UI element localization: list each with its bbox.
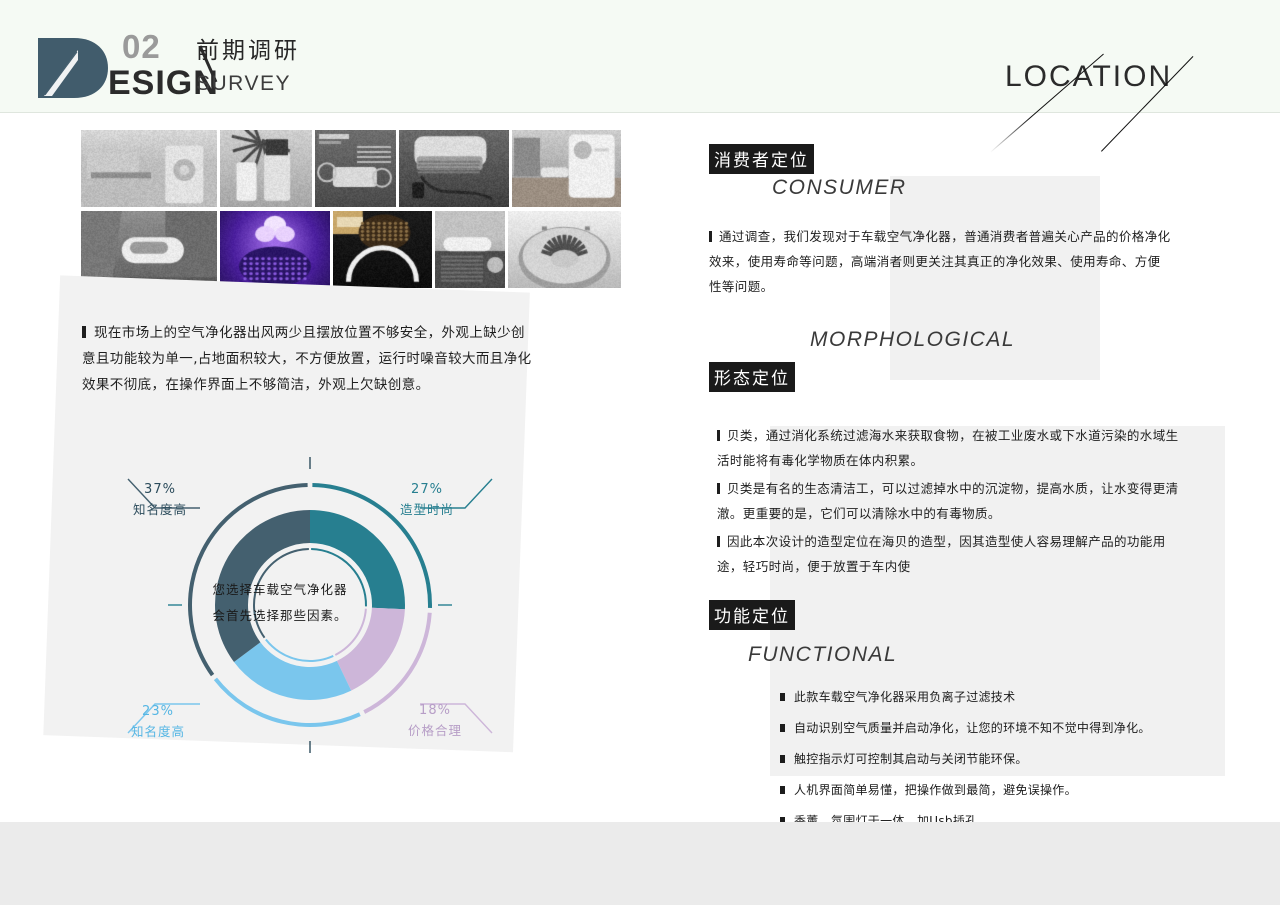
- morphological-list: 贝类，通过消化系统过滤海水来获取食物，在被工业废水或下水道污染的水域生活时能将有…: [717, 423, 1179, 579]
- chart-label-3-name: 知名度高: [133, 499, 187, 518]
- functional-bullet-1: [780, 724, 785, 732]
- morphological-bullet-bar-0: [717, 430, 720, 441]
- chart-label-0: 27% 造型时尚: [400, 482, 454, 518]
- chart-label-2-pct: 23%: [131, 704, 185, 719]
- chart-label-0-name: 造型时尚: [400, 499, 454, 518]
- chart-label-2-name: 知名度高: [131, 721, 185, 740]
- functional-bullet-4: [780, 817, 785, 822]
- morphological-bullet-bar-1: [717, 483, 720, 494]
- functional-item-1-text: 自动识别空气质量并启动净化，让您的环境不知不觉中得到净化。: [794, 721, 1151, 735]
- functional-item-4-text: 香薰，氛围灯于一体，加Usb插孔: [794, 814, 977, 822]
- functional-bullet-0: [780, 693, 785, 701]
- photo-round-lamp-purifier: [333, 211, 432, 288]
- morphological-item-1: 贝类是有名的生态清洁工，可以过滤掉水中的沉淀物，提高水质，让水变得更清澈。更重要…: [717, 476, 1179, 526]
- donut-center-line2: 会首先选择那些因素。: [190, 603, 370, 629]
- functional-item-4: 香薰，氛围灯于一体，加Usb插孔: [780, 806, 1180, 822]
- consumer-body-text: 通过调查，我们发现对于车载空气净化器，普通消费者普遍关心产品的价格净化效来，使用…: [709, 229, 1171, 294]
- photo-purple-led-purifier: [220, 211, 330, 288]
- donut-center-text: 您选择车载空气净化器 会首先选择那些因素。: [190, 577, 370, 629]
- chart-label-1-pct: 18%: [408, 703, 462, 718]
- morphological-item-2: 因此本次设计的造型定位在海贝的造型，因其造型使人容易理解产品的功能用途，轻巧时尚…: [717, 529, 1179, 579]
- chart-label-1: 18% 价格合理: [408, 703, 462, 739]
- morphological-item-0: 贝类，通过消化系统过滤海水来获取食物，在被工业废水或下水道污染的水域生活时能将有…: [717, 423, 1179, 473]
- functional-item-2-text: 触控指示灯可控制其启动与关闭节能环保。: [794, 752, 1028, 766]
- consumer-tag: 消费者定位: [709, 144, 814, 174]
- morphological-item-1-text: 贝类是有名的生态清洁工，可以过滤掉水中的沉淀物，提高水质，让水变得更清澈。更重要…: [717, 481, 1179, 521]
- functional-item-0-text: 此款车载空气净化器采用负离子过滤技术: [794, 690, 1015, 704]
- functional-list: 此款车载空气净化器采用负离子过滤技术 自动识别空气质量并启动净化，让您的环境不知…: [780, 682, 1180, 822]
- consumer-body: 通过调查，我们发现对于车载空气净化器，普通消费者普遍关心产品的价格净化效来，使用…: [709, 224, 1171, 299]
- photo-row-2: [81, 211, 621, 288]
- photo-vent-grille-purifier: [508, 211, 621, 288]
- functional-tag-wrap: 功能定位: [709, 600, 795, 630]
- chart-label-3: 37% 知名度高: [133, 482, 187, 518]
- logo-number: 02: [122, 28, 161, 66]
- photo-row-1: [81, 130, 621, 207]
- poster-page: ESIGN 02 前期调研 SURVEY LOCATION 现在市场上的空气净化…: [0, 0, 1280, 822]
- photo-car-purifier-cable: [399, 130, 509, 207]
- morphological-item-0-text: 贝类，通过消化系统过滤海水来获取食物，在被工业废水或下水道污染的水域生活时能将有…: [717, 428, 1179, 468]
- page-title-en: SURVEY: [196, 72, 300, 96]
- morphological-tag: 形态定位: [709, 362, 795, 392]
- header-title-block: 前期调研 SURVEY: [196, 38, 300, 96]
- morphological-tag-wrap: 形态定位: [709, 362, 795, 392]
- consumer-en-title: CONSUMER: [772, 176, 907, 200]
- photo-dashboard-purifier: [435, 211, 505, 288]
- consumer-bullet-bar: [709, 231, 712, 242]
- paragraph-bullet-bar: [82, 326, 86, 338]
- functional-item-3-text: 人机界面简单易懂，把操作做到最简，避免误操作。: [794, 783, 1077, 797]
- photo-living-room-purifier: [81, 130, 217, 207]
- research-photo-grid: [81, 130, 621, 288]
- photo-desk-purifier-plants: [220, 130, 312, 207]
- left-paragraph-text: 现在市场上的空气净化器出风两少且摆放位置不够安全，外观上缺少创意且功能较为单一,…: [82, 325, 532, 393]
- chart-label-1-name: 价格合理: [408, 720, 462, 739]
- functional-en-title: FUNCTIONAL: [748, 643, 897, 667]
- chart-label-2: 23% 知名度高: [131, 704, 185, 740]
- functional-bullet-3: [780, 786, 785, 794]
- chart-label-3-pct: 37%: [133, 482, 187, 497]
- donut-segment-2: [234, 642, 351, 700]
- chart-label-0-pct: 27%: [400, 482, 454, 497]
- photo-home-purifier-floor: [512, 130, 621, 207]
- functional-tag: 功能定位: [709, 600, 795, 630]
- page-title-cn: 前期调研: [196, 38, 300, 66]
- morphological-item-2-text: 因此本次设计的造型定位在海贝的造型，因其造型使人容易理解产品的功能用途，轻巧时尚…: [717, 534, 1166, 574]
- left-paragraph: 现在市场上的空气净化器出风两少且摆放位置不够安全，外观上缺少创意且功能较为单一,…: [82, 320, 537, 398]
- morphological-bullet-bar-2: [717, 536, 720, 547]
- functional-bullet-2: [780, 755, 785, 763]
- functional-item-1: 自动识别空气质量并启动净化，让您的环境不知不觉中得到净化。: [780, 713, 1180, 744]
- donut-center-line1: 您选择车载空气净化器: [190, 577, 370, 603]
- photo-portable-purifier-ad: [315, 130, 396, 207]
- functional-item-3: 人机界面简单易懂，把操作做到最简，避免误操作。: [780, 775, 1180, 806]
- header-divider: [0, 112, 1280, 113]
- consumer-tag-wrap: 消费者定位: [709, 144, 814, 174]
- functional-item-2: 触控指示灯可控制其启动与关闭节能环保。: [780, 744, 1180, 775]
- functional-item-0: 此款车载空气净化器采用负离子过滤技术: [780, 682, 1180, 713]
- morphological-en-title: MORPHOLOGICAL: [810, 328, 1015, 352]
